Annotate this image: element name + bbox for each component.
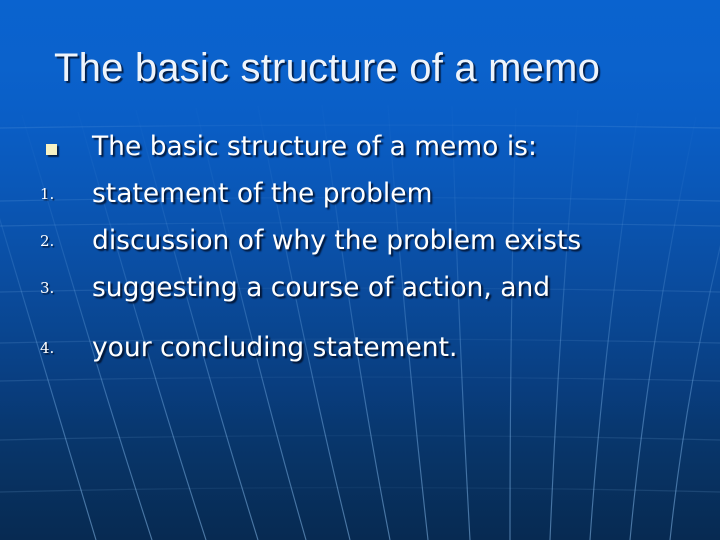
list-item: 1. statement of the problem [0,175,720,213]
list-item: The basic structure of a memo is: [0,128,720,166]
list-item: 2. discussion of why the problem exists [0,222,720,260]
list-number-marker: 3. [40,279,76,297]
list-number-marker: 4. [40,339,76,357]
list-marker-cell: 2. [0,222,92,260]
list-item-label: suggesting a course of action, and [92,269,720,306]
list-item-label: statement of the problem [92,175,720,212]
slide: The basic structure of a memo The basic … [0,0,720,540]
list-item: 3. suggesting a course of action, and [0,269,720,307]
list-marker-cell: 1. [0,175,92,213]
list-marker-cell [0,128,92,166]
list-item-label: The basic structure of a memo is: [92,128,720,165]
list-item-label: your concluding statement. [92,329,720,366]
list-marker-cell: 3. [0,269,92,307]
list-item-label: discussion of why the problem exists [92,222,617,259]
square-bullet-icon [46,144,57,155]
content-list: The basic structure of a memo is: 1. sta… [0,128,720,376]
list-marker-cell: 4. [0,329,92,367]
list-item: 4. your concluding statement. [0,329,720,367]
page-title: The basic structure of a memo [54,42,674,100]
list-number-marker: 2. [40,232,76,250]
list-number-marker: 1. [40,185,76,203]
